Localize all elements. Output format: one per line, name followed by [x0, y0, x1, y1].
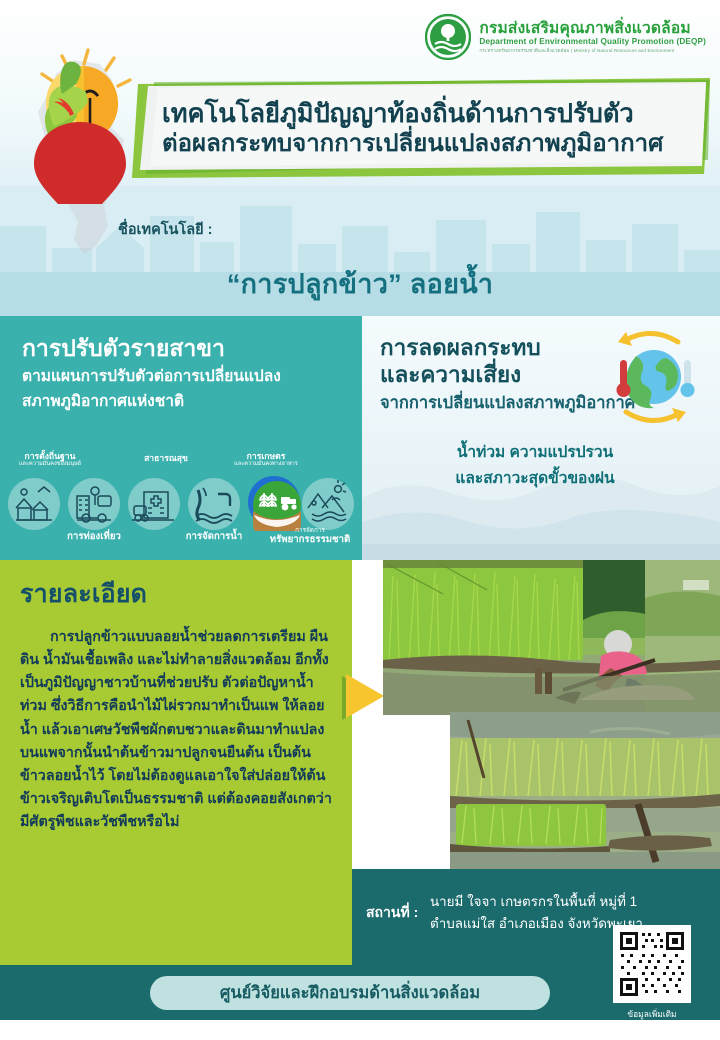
- yellow-play-arrow-icon: [340, 672, 384, 724]
- sector-icon-natural-resources[interactable]: [302, 478, 354, 530]
- sector-caption-health: สาธารณสุข: [128, 454, 204, 463]
- details-body: การปลูกข้าวแบบลอยน้ำช่วยลดการเตรียม ผืนด…: [20, 626, 334, 834]
- adaptation-sub-1: ตามแผนการปรับตัวต่อการเปลี่ยนแปลง: [22, 366, 346, 388]
- bottom-white-strip: [0, 1020, 720, 1040]
- sector-icons-strip: การตั้งถิ่นฐาน และความมั่นคงของมนุษย์ สา…: [0, 452, 362, 552]
- risk-note-line-1: น้ำท่วม ความแปรปรวน: [380, 440, 690, 466]
- adaptation-sub-2: สภาพภูมิอากาศแห่งชาติ: [22, 391, 346, 413]
- sector-icon-water-management[interactable]: [188, 478, 240, 530]
- tree-water-seal-icon: [425, 14, 471, 60]
- deqp-logo: กรมส่งเสริมคุณภาพสิ่งแวดล้อม Department …: [425, 14, 706, 60]
- details-panel: รายละเอียด การปลูกข้าวแบบลอยน้ำช่วยลดการ…: [0, 560, 352, 965]
- qr-code-icon[interactable]: [613, 925, 691, 1003]
- floating-rice-farmer-boat-photo: [383, 560, 720, 715]
- location-line-1: นายมี ใจจา เกษตรกรในพื้นที่ หมู่ที่ 1: [430, 891, 710, 913]
- hero-section: กรมส่งเสริมคุณภาพสิ่งแวดล้อม Department …: [0, 0, 720, 316]
- climate-risk-note: น้ำท่วม ความแปรปรวน และสภาวะสุดขั้วของฝน: [380, 440, 704, 491]
- lightbulb-leaf-map-pin-icon: [14, 44, 146, 204]
- mitigation-risk-panel: การลดผลกระทบ และความเสี่ยง จากการเปลี่ยน…: [362, 316, 720, 560]
- technology-label: ชื่อเทคโนโลยี :: [118, 218, 213, 241]
- adaptation-heading: การปรับตัวรายสาขา: [22, 334, 346, 363]
- location-label: สถานที่ :: [366, 902, 418, 924]
- floating-rice-rafts-photo: [450, 712, 720, 869]
- sector-icon-settlement[interactable]: [8, 478, 60, 530]
- footer-center-label: ศูนย์วิจัยและฝึกอบรมด้านสิ่งแวดล้อม: [220, 980, 480, 1006]
- sector-icon-agriculture[interactable]: [248, 476, 300, 528]
- org-ministry: กระทรวงทรัพยากรธรรมชาติและสิ่งแวดล้อม | …: [479, 49, 706, 54]
- poster-root: กรมส่งเสริมคุณภาพสิ่งแวดล้อม Department …: [0, 0, 720, 1040]
- org-name-th: กรมส่งเสริมคุณภาพสิ่งแวดล้อม: [479, 21, 706, 37]
- qr-caption: ข้อมูลเพิ่มเติม: [613, 1007, 691, 1021]
- technology-name: “การปลูกข้าว” ลอยน้ำ: [0, 262, 720, 305]
- title-line-2: ต่อผลกระทบจากการเปลี่ยนแปลงสภาพภูมิอากาศ: [162, 130, 706, 158]
- sector-caption-settlement: การตั้งถิ่นฐาน และความมั่นคงของมนุษย์: [2, 452, 98, 468]
- sector-caption-natural-resources: การจัดการ ทรัพยากรธรรมชาติ: [258, 528, 362, 545]
- page-title: เทคโนโลยีภูมิปัญญาท้องถิ่นด้านการปรับตัว…: [150, 86, 706, 172]
- sector-icon-tourism[interactable]: [68, 478, 120, 530]
- title-line-1: เทคโนโลยีภูมิปัญญาท้องถิ่นด้านการปรับตัว: [162, 100, 706, 130]
- org-name-en: Department of Environmental Quality Prom…: [479, 38, 706, 47]
- sector-caption-tourism: การท่องเที่ยว: [46, 532, 142, 542]
- sector-caption-agriculture: การเกษตร และความมั่นคงทางอาหาร: [214, 452, 318, 468]
- risk-note-line-2: และสภาวะสุดขั้วของฝน: [380, 466, 690, 492]
- sector-caption-water: การจัดการน้ำ: [168, 532, 260, 542]
- sector-icon-public-health[interactable]: [128, 478, 180, 530]
- globe-thermometer-icon: [596, 326, 708, 430]
- details-heading: รายละเอียด: [20, 574, 334, 614]
- footer-center-pill[interactable]: ศูนย์วิจัยและฝึกอบรมด้านสิ่งแวดล้อม: [150, 976, 550, 1010]
